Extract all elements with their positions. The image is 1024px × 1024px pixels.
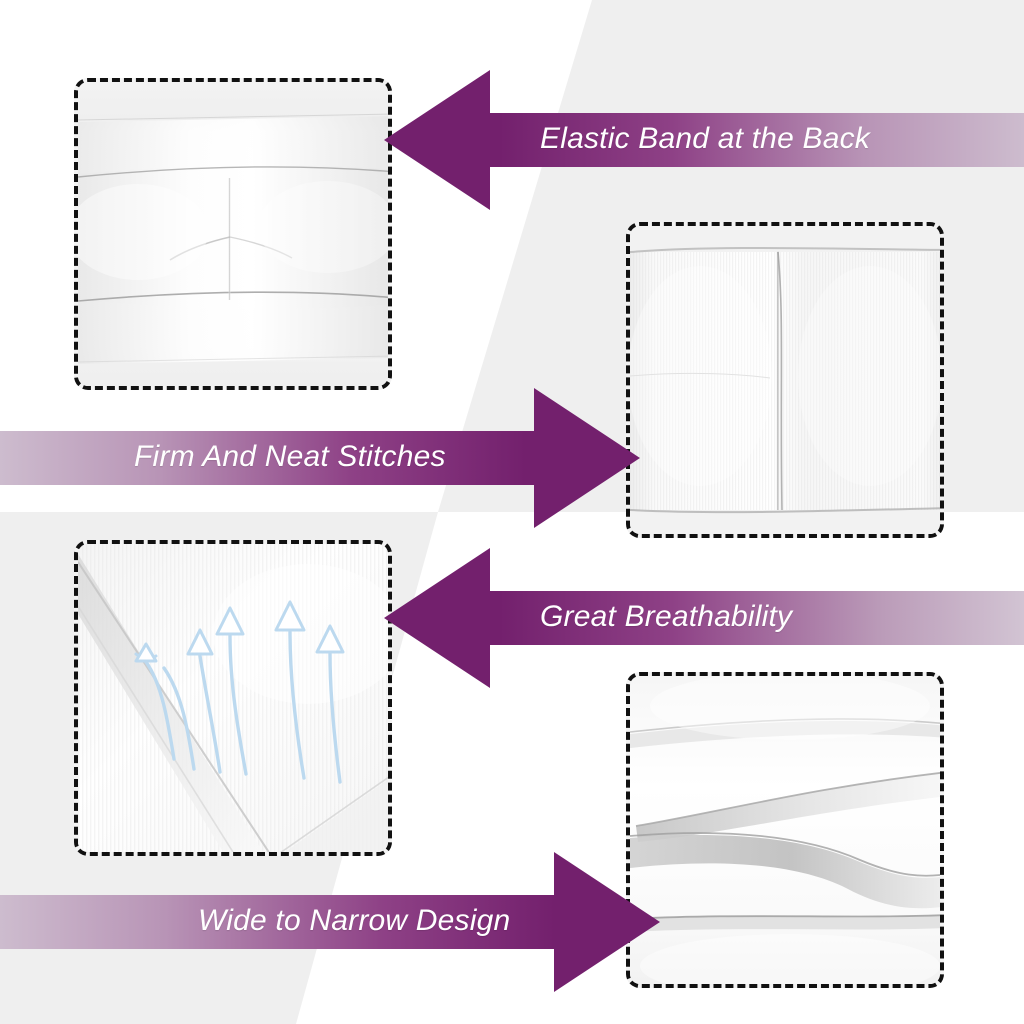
arrow-band-wide-to-narrow: Wide to Narrow Design (0, 852, 660, 992)
feature-label-elastic-band: Elastic Band at the Back (540, 124, 870, 154)
arrow-band-breathability: Great Breathability (384, 548, 1024, 688)
feature-label-breathability: Great Breathability (540, 602, 792, 632)
photo-wide-to-narrow (626, 672, 944, 988)
feature-label-wide-to-narrow: Wide to Narrow Design (198, 906, 510, 936)
photo-elastic-band (74, 78, 392, 390)
infographic-canvas: Elastic Band at the Back Firm And Neat S… (0, 0, 1024, 1024)
photo-breathability (74, 540, 392, 856)
photo-elastic-band-image (78, 82, 388, 386)
photo-wide-to-narrow-image (630, 676, 940, 984)
arrow-band-elastic-band: Elastic Band at the Back (384, 70, 1024, 210)
arrow-band-firm-stitches: Firm And Neat Stitches (0, 388, 640, 528)
photo-firm-stitches-image (630, 226, 940, 534)
feature-label-firm-stitches: Firm And Neat Stitches (134, 442, 446, 472)
photo-breathability-image (78, 544, 388, 852)
photo-firm-stitches (626, 222, 944, 538)
